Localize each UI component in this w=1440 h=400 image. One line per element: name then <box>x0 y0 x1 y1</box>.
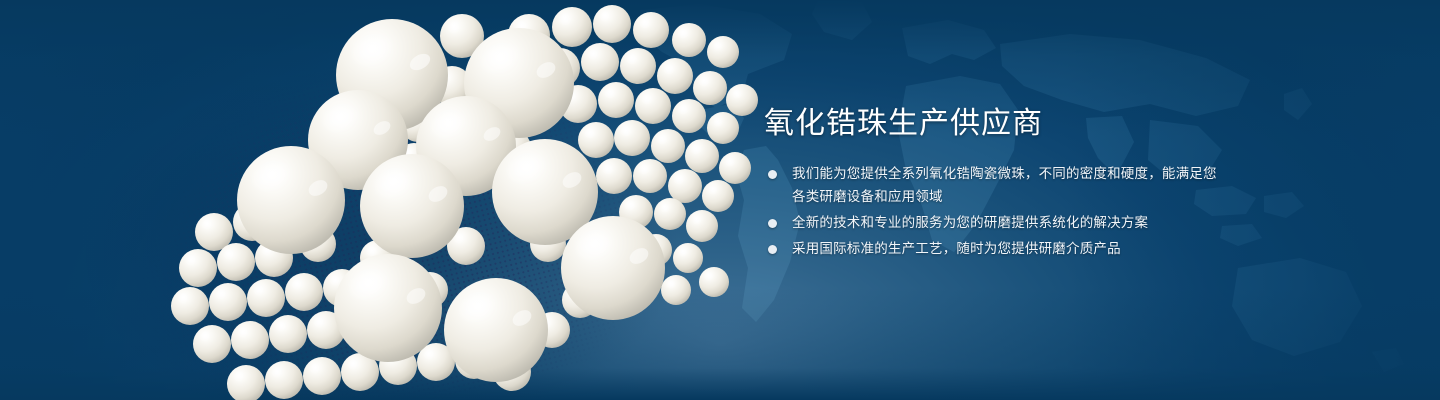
feature-list: 我们能为您提供全系列氧化锆陶瓷微珠，不同的密度和硬度，能满足您各类研磨设备和应用… <box>764 163 1224 261</box>
list-item-label: 采用国际标准的生产工艺，随时为您提供研磨介质产品 <box>792 238 1224 261</box>
hero-copy: 氧化锆珠生产供应商 我们能为您提供全系列氧化锆陶瓷微珠，不同的密度和硬度，能满足… <box>764 104 1224 264</box>
zirconia-beads-photo <box>0 0 760 400</box>
list-item: 我们能为您提供全系列氧化锆陶瓷微珠，不同的密度和硬度，能满足您各类研磨设备和应用… <box>764 163 1224 209</box>
list-item: 全新的技术和专业的服务为您的研磨提供系统化的解决方案 <box>764 212 1224 235</box>
bullet-dot-icon <box>768 219 777 228</box>
list-item-label: 我们能为您提供全系列氧化锆陶瓷微珠，不同的密度和硬度，能满足您各类研磨设备和应用… <box>792 163 1224 209</box>
list-item-label: 全新的技术和专业的服务为您的研磨提供系统化的解决方案 <box>792 212 1224 235</box>
page-title: 氧化锆珠生产供应商 <box>764 104 1224 144</box>
bullet-dot-icon <box>768 170 777 179</box>
list-item: 采用国际标准的生产工艺，随时为您提供研磨介质产品 <box>764 238 1224 261</box>
bullet-dot-icon <box>768 245 777 254</box>
hero-banner: 氧化锆珠生产供应商 我们能为您提供全系列氧化锆陶瓷微珠，不同的密度和硬度，能满足… <box>0 0 1440 400</box>
